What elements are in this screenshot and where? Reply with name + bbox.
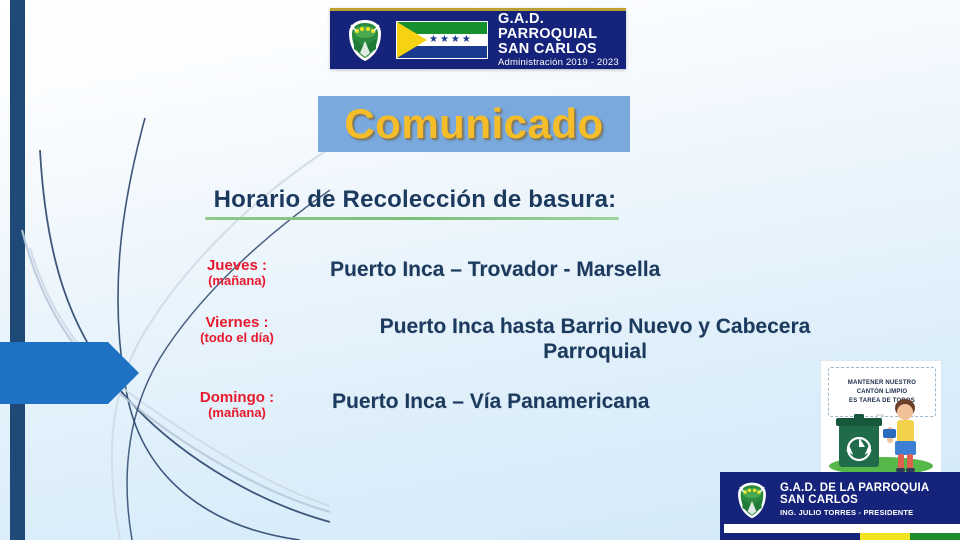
footer-stripe-white [724, 524, 960, 533]
schedule-row-thursday: Jueves : (mañana) Puerto Inca – Trovador… [172, 258, 812, 287]
announcement-title-box: Comunicado [318, 96, 630, 152]
section-heading: Horario de Recolección de basura: [205, 186, 625, 214]
footer-org-line2: SAN CARLOS [780, 494, 929, 506]
section-heading-underline [205, 217, 619, 220]
page-title: Comunicado [344, 100, 603, 148]
flag-stars: ★★★★ [429, 35, 473, 45]
day-note: (todo el día) [172, 331, 302, 345]
poster-illustration [821, 361, 941, 481]
header-org-line1: G.A.D. PARROQUIAL [498, 12, 626, 42]
day-name: Viernes : [172, 315, 302, 331]
header-org-line2: SAN CARLOS [498, 42, 626, 57]
awareness-poster-image: MANTENER NUESTRO CANTÓN LIMPIO ES TAREA … [820, 360, 942, 482]
route-friday: Puerto Inca hasta Barrio Nuevo y Cabecer… [330, 315, 860, 365]
day-label-thursday: Jueves : (mañana) [172, 258, 302, 287]
header-banner-text: G.A.D. PARROQUIAL SAN CARLOS Administrac… [498, 12, 626, 69]
day-name: Jueves : [172, 258, 302, 274]
slide-canvas: ★★★★ G.A.D. PARROQUIAL SAN CARLOS Admini… [0, 0, 960, 540]
footer-coat-of-arms-icon [732, 480, 772, 520]
footer-stripe-yellow [860, 533, 910, 540]
day-note: (mañana) [172, 406, 302, 420]
day-note: (mañana) [172, 274, 302, 288]
day-label-friday: Viernes : (todo el día) [172, 315, 302, 344]
footer-banner: G.A.D. DE LA PARROQUIA SAN CARLOS ING. J… [720, 472, 960, 540]
schedule-row-friday: Viernes : (todo el día) Puerto Inca hast… [172, 315, 872, 365]
route-sunday: Puerto Inca – Vía Panamericana [332, 390, 649, 415]
parish-flag-icon: ★★★★ [396, 21, 488, 59]
footer-org-line1: G.A.D. DE LA PARROQUIA [780, 482, 929, 494]
header-admin-line: Administración 2019 - 2023 [498, 58, 626, 68]
schedule-row-sunday: Domingo : (mañana) Puerto Inca – Vía Pan… [172, 390, 812, 419]
day-label-sunday: Domingo : (mañana) [172, 390, 302, 419]
header-banner: ★★★★ G.A.D. PARROQUIAL SAN CARLOS Admini… [330, 8, 626, 69]
route-thursday: Puerto Inca – Trovador - Marsella [330, 258, 660, 283]
coat-of-arms-icon [342, 17, 388, 63]
footer-president-line: ING. JULIO TORRES - PRESIDENTE [780, 509, 929, 517]
footer-stripe-green [910, 533, 960, 540]
day-name: Domingo : [172, 390, 302, 406]
footer-banner-text: G.A.D. DE LA PARROQUIA SAN CARLOS ING. J… [780, 482, 929, 517]
blue-arrow-shape [0, 342, 138, 404]
